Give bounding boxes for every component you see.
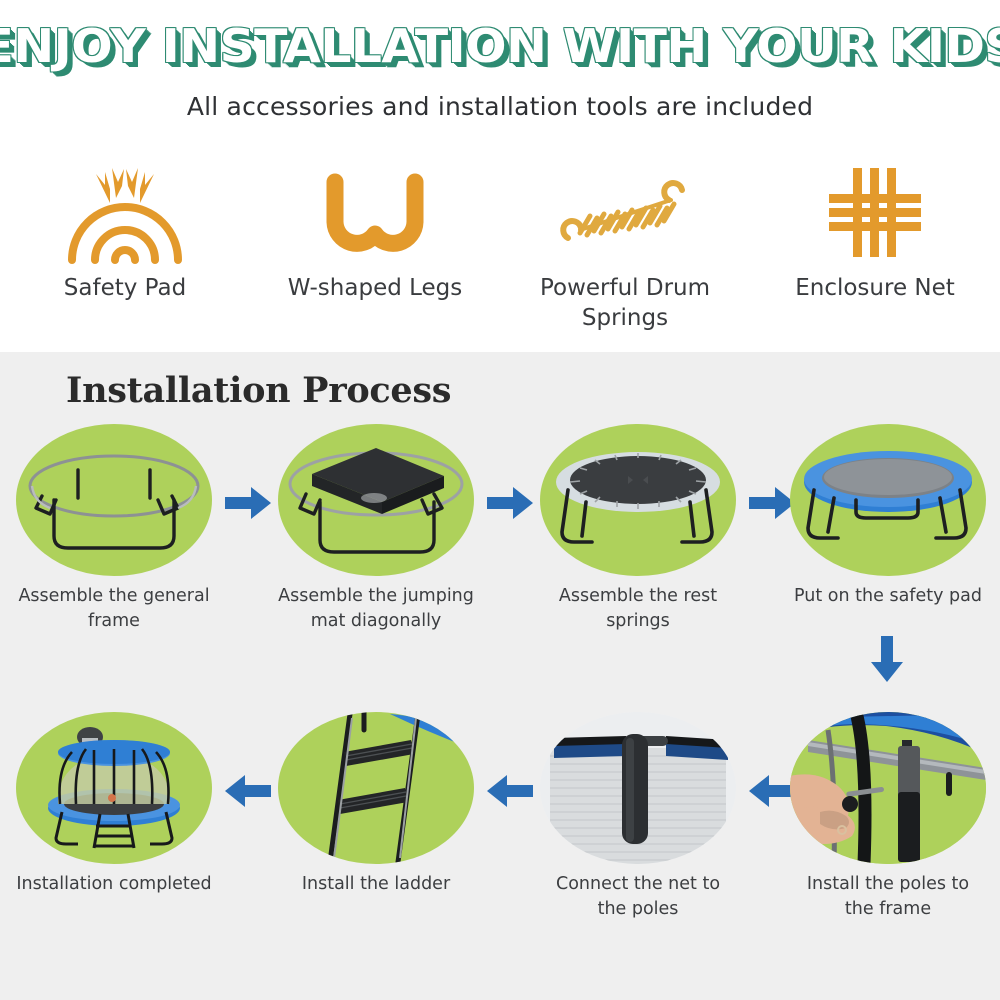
process-step-4: Put on the safety pad [790,424,986,609]
w-legs-icon [295,160,455,265]
arrow-step3-to-step4 [749,486,795,520]
process-step-1: Assemble the general frame [16,424,212,634]
feature-enclosure-net: Enclosure Net [750,160,1000,333]
spring-icon [545,160,705,265]
step-caption: Assemble the jumping mat diagonally [278,584,474,634]
step-image-safety-pad [790,424,986,576]
step-caption: Assemble the general frame [16,584,212,634]
arrow-step6-to-step7 [487,774,533,808]
safety-pad-icon [45,160,205,265]
step-caption: Installation completed [16,872,212,897]
step-image-mat [278,424,474,576]
process-step-2: Assemble the jumping mat diagonally [278,424,474,634]
step-image-ladder [278,712,474,864]
section-title: Installation Process [66,370,451,411]
step-image-completed [16,712,212,864]
arrow-step7-to-step8 [225,774,271,808]
process-step-3: Assemble the rest springs [540,424,736,634]
feature-drum-springs: Powerful Drum Springs [500,160,750,333]
step-image-springs [540,424,736,576]
process-step-7: Install the ladder [278,712,474,897]
hero-section: ENJOY INSTALLATION WITH YOUR KIDS All ac… [0,0,1000,352]
net-grid-icon [795,160,955,265]
feature-label: Powerful Drum Springs [518,273,733,333]
feature-label: Safety Pad [64,273,186,303]
step-caption: Install the poles to the frame [790,872,986,922]
feature-label: W-shaped Legs [288,273,463,303]
step-caption: Connect the net to the poles [540,872,736,922]
arrow-step4-to-step5 [870,636,904,682]
title-banner: ENJOY INSTALLATION WITH YOUR KIDS [0,18,1000,82]
step-image-install-poles [790,712,986,864]
step-caption: Put on the safety pad [790,584,986,609]
process-row-bottom: Installation completed [0,712,1000,978]
page-root: ENJOY INSTALLATION WITH YOUR KIDS All ac… [0,0,1000,1000]
process-step-8: Installation completed [16,712,212,897]
process-step-6: Connect the net to the poles [540,712,736,922]
step-caption: Install the ladder [278,872,474,897]
process-step-5: Install the poles to the frame [790,712,986,922]
feature-list: Safety Pad W-shaped Legs [0,160,1000,333]
process-grid: Assemble the general frame [0,424,1000,978]
process-row-top: Assemble the general frame [0,424,1000,690]
arrow-step2-to-step3 [487,486,533,520]
step-image-frame [16,424,212,576]
arrow-step1-to-step2 [225,486,271,520]
feature-safety-pad: Safety Pad [0,160,250,333]
page-title: ENJOY INSTALLATION WITH YOUR KIDS [0,18,1000,74]
feature-label: Enclosure Net [795,273,955,303]
installation-process-section: Installation Process [0,352,1000,1000]
page-subtitle: All accessories and installation tools a… [0,92,1000,121]
arrow-step5-to-step6 [749,774,795,808]
step-image-net-poles [540,712,736,864]
feature-w-shaped-legs: W-shaped Legs [250,160,500,333]
step-caption: Assemble the rest springs [540,584,736,634]
